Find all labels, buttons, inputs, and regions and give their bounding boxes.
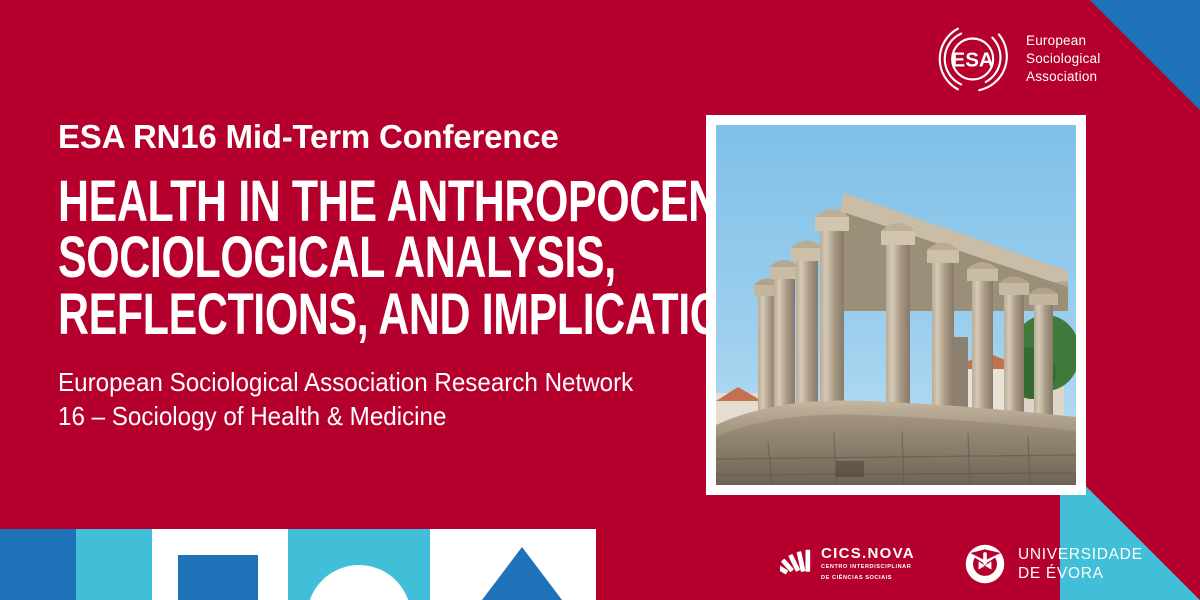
cics-nova-tagline-1: CENTRO INTERDISCIPLINAR xyxy=(821,563,915,571)
esa-logo: ESA European Sociological Association xyxy=(930,18,1100,100)
uevora-emblem-icon xyxy=(963,542,1007,586)
network-subtitle: European Sociological Association Resear… xyxy=(58,365,701,434)
shape-blue-square xyxy=(0,529,76,600)
uevora-wordmark: UNIVERSIDADE DE ÉVORA xyxy=(1018,545,1143,583)
universidade-de-evora-logo: UNIVERSIDADE DE ÉVORA xyxy=(963,542,1143,586)
headline-line-2: SOCIOLOGICAL ANALYSIS, xyxy=(58,230,697,286)
esa-mark-text: ESA xyxy=(952,48,994,71)
geometric-decoration-band xyxy=(0,529,596,600)
subtitle-line-2: 16 – Sociology of Health & Medicine xyxy=(58,399,701,434)
esa-word-line-2: Sociological xyxy=(1026,50,1100,68)
esa-logo-wordmark: European Sociological Association xyxy=(1026,32,1100,86)
subtitle-line-1: European Sociological Association Resear… xyxy=(58,365,701,400)
partner-logos: CICS.NOVA CENTRO INTERDISCIPLINAR DE CIÊ… xyxy=(780,542,1143,586)
shape-cyan-square xyxy=(76,529,152,600)
cics-rays-icon xyxy=(780,548,814,582)
photo-frame xyxy=(706,115,1086,495)
cics-nova-wordmark: CICS.NOVA CENTRO INTERDISCIPLINAR DE CIÊ… xyxy=(821,546,915,582)
conference-kicker: ESA RN16 Mid-Term Conference xyxy=(58,118,698,156)
roman-temple-photo xyxy=(716,125,1076,485)
uevora-line-2: DE ÉVORA xyxy=(1018,564,1143,583)
esa-emblem-icon: ESA xyxy=(930,18,1012,100)
headline-line-1: HEALTH IN THE ANTHROPOCENE: xyxy=(58,174,697,230)
conference-banner: ESA European Sociological Association ES… xyxy=(0,0,1200,600)
headline-line-3: REFLECTIONS, AND IMPLICATIONS xyxy=(58,287,697,343)
esa-word-line-3: Association xyxy=(1026,68,1100,86)
uevora-line-1: UNIVERSIDADE xyxy=(1018,545,1143,564)
cics-nova-logo: CICS.NOVA CENTRO INTERDISCIPLINAR DE CIÊ… xyxy=(780,546,915,582)
page-title: HEALTH IN THE ANTHROPOCENE: SOCIOLOGICAL… xyxy=(58,174,697,343)
cics-nova-name: CICS.NOVA xyxy=(821,546,915,561)
shape-cyan-square-with-circle xyxy=(288,529,430,600)
title-block: ESA RN16 Mid-Term Conference HEALTH IN T… xyxy=(58,118,698,434)
top-right-diagonal-accent xyxy=(1090,0,1200,110)
esa-word-line-1: European xyxy=(1026,32,1100,50)
shape-blue-rectangle xyxy=(178,555,258,600)
cics-nova-tagline-2: DE CIÊNCIAS SOCIAIS xyxy=(821,574,915,582)
geometric-shapes xyxy=(0,529,596,600)
